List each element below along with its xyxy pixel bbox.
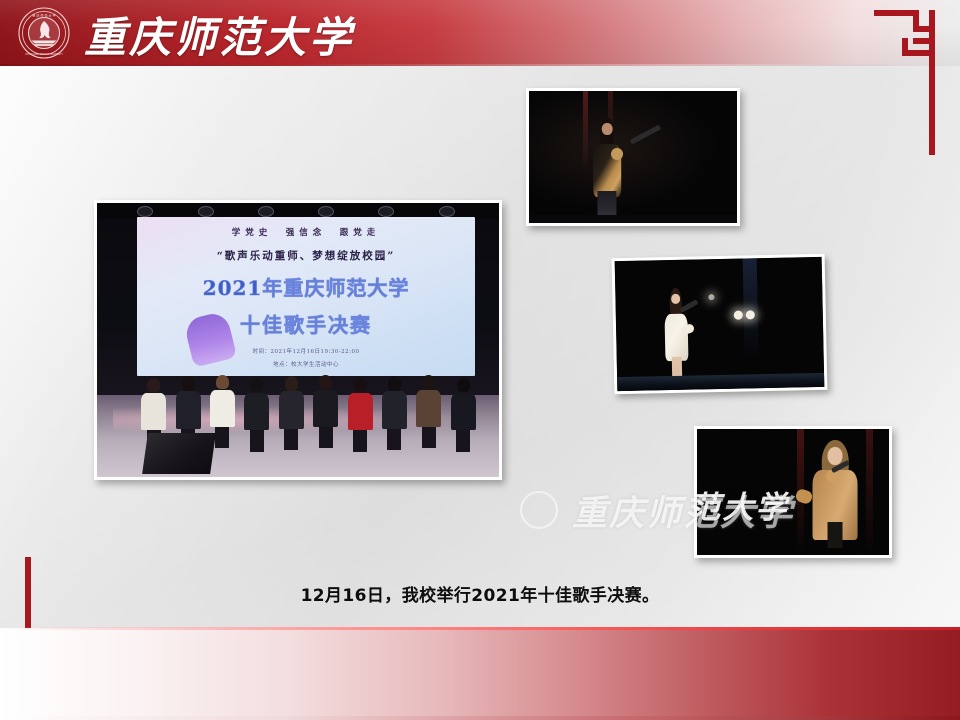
group-photo-contestants-on-stage[interactable]: 学党史 强信念 跟党走 “歌声乐动重师、梦想绽放校园” 2021年重庆师范大学 … <box>94 200 502 480</box>
stage-edge <box>617 373 824 392</box>
contestant-legs <box>422 427 436 448</box>
svg-text:CHONGQING NORMAL UNIVERSITY: CHONGQING NORMAL UNIVERSITY <box>25 53 63 56</box>
contestant-figure <box>382 378 407 428</box>
contestant-body <box>279 391 304 428</box>
singer-figure <box>589 123 624 221</box>
crest-watermark-icon <box>520 491 558 529</box>
photo-female-singer-white-dress[interactable] <box>612 254 828 394</box>
contestant-legs <box>387 429 401 450</box>
banner-title-line1: 2021年重庆师范大学 <box>137 272 475 301</box>
contestant-hair <box>354 378 367 392</box>
contestant-body <box>141 393 166 430</box>
contestant-legs <box>250 430 264 451</box>
contestant-figure <box>141 380 166 430</box>
contestant-hair <box>216 375 229 389</box>
corner-bracket-top-right-icon <box>874 10 942 155</box>
svg-text:重 庆 师 范 大 学: 重 庆 师 范 大 学 <box>32 12 55 17</box>
contestant-hair <box>422 375 435 389</box>
banner-info-place: 地点：校大学生活动中心 <box>137 360 475 368</box>
contestant-figure <box>210 377 235 427</box>
contestant-figure <box>348 380 373 430</box>
contestant-hair <box>182 376 195 390</box>
banner-slogan-top: 学党史 强信念 跟党走 <box>137 226 475 238</box>
contestant-figure <box>451 380 476 430</box>
contestant-figure <box>176 378 201 428</box>
photo-singer-camel-coat[interactable]: 范大学 <box>694 426 892 558</box>
contestant-body <box>244 393 269 430</box>
contestant-figure <box>244 380 269 430</box>
banner-slogan-quote: “歌声乐动重师、梦想绽放校园” <box>137 248 475 263</box>
slide-caption: 12月16日，我校举行2021年十佳歌手决赛。 <box>0 581 960 606</box>
stage-banner: 学党史 强信念 跟党走 “歌声乐动重师、梦想绽放校园” 2021年重庆师范大学 … <box>137 217 475 376</box>
university-crest-icon: 重 庆 师 范 大 学 CHONGQING NORMAL UNIVERSITY <box>18 7 70 59</box>
slide-footer-band <box>0 628 960 720</box>
stage-backdrop <box>615 257 825 391</box>
footer-bottom-edge <box>0 716 960 720</box>
contestant-legs <box>284 429 298 450</box>
contestant-legs <box>456 430 470 451</box>
contestant-hair <box>457 378 470 392</box>
university-name-wordmark: 重庆师范大学 <box>84 6 354 62</box>
contestant-hair <box>250 378 263 392</box>
contestant-body <box>348 393 373 430</box>
contestant-hair <box>319 375 332 389</box>
contestant-hair <box>388 376 401 390</box>
contestant-figure <box>416 377 441 427</box>
contestant-body <box>176 391 201 428</box>
stage-haze <box>529 91 737 223</box>
footer-hairline <box>0 627 960 630</box>
contestant-legs <box>319 427 333 448</box>
contestant-body <box>313 390 338 427</box>
singer-figure <box>806 447 864 555</box>
contestant-legs <box>353 430 367 451</box>
contestant-body <box>210 390 235 427</box>
banner-info-time: 时间：2021年12月16日19:30-22:00 <box>137 347 475 355</box>
contestant-figure <box>279 378 304 428</box>
contestant-hair <box>285 376 298 390</box>
contestant-body <box>451 393 476 430</box>
photo-male-singer-performing[interactable] <box>526 88 740 226</box>
contestant-body <box>382 391 407 428</box>
contestant-legs <box>215 427 229 448</box>
contestant-hair <box>147 378 160 392</box>
photo-overlay-watermark: 范大学 <box>697 482 788 527</box>
contestant-figure <box>313 377 338 427</box>
stage-monitor-speaker <box>142 433 216 474</box>
contestant-body <box>416 390 441 427</box>
presentation-slide: 重 庆 师 范 大 学 CHONGQING NORMAL UNIVERSITY … <box>0 0 960 720</box>
